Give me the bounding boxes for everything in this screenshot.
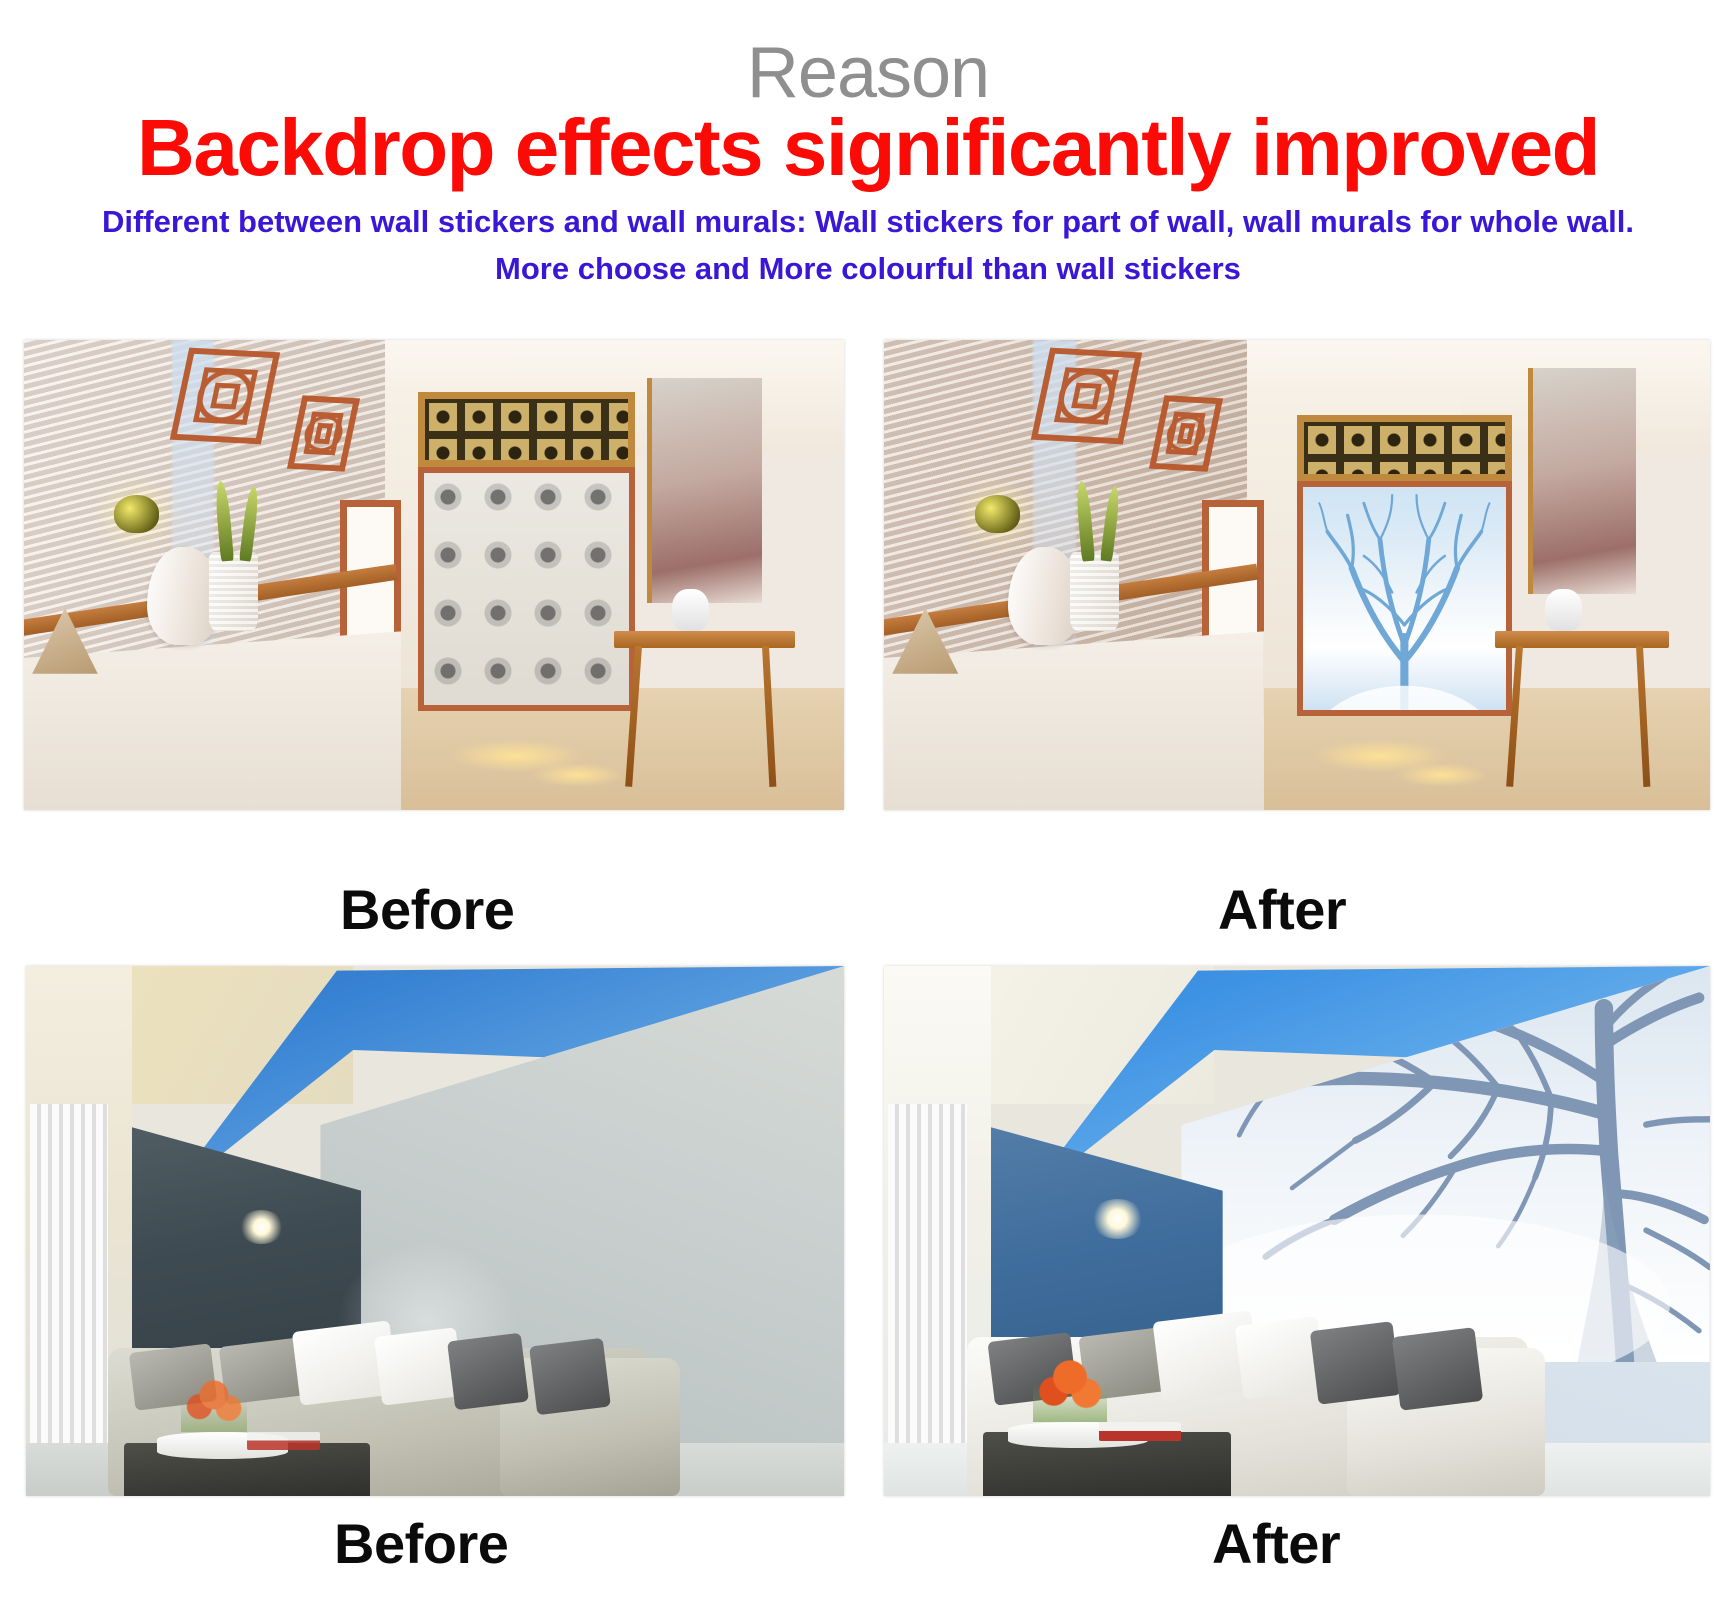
side-artwork [1528, 368, 1635, 594]
floor-light-pool-2 [1396, 763, 1487, 787]
photo-living-room-after [884, 966, 1710, 1496]
caption-hallway-before: Before [340, 880, 514, 940]
cushion-5 [447, 1333, 528, 1410]
caption-living-room-after: After [1212, 1514, 1340, 1574]
caption-hallway-after: After [1218, 880, 1346, 940]
ceiling-spotlight-icon [1091, 1199, 1145, 1239]
ceiling-spotlight-icon [239, 1210, 284, 1244]
lattice-decor-icon [1031, 348, 1142, 445]
lattice-decor-icon [170, 348, 281, 445]
tree-mural-panel [1297, 481, 1512, 716]
cushion-6 [529, 1338, 610, 1415]
photo-hallway-after [884, 340, 1710, 810]
tree-mural-icon [1303, 487, 1506, 716]
caption-living-room-before: Before [334, 1514, 508, 1574]
ribbed-vase [209, 552, 258, 632]
cushion-6 [1392, 1327, 1483, 1411]
scene-hallway-before [24, 340, 844, 810]
ribbed-vase [1070, 552, 1120, 632]
subtitle-line-1: Different between wall stickers and wall… [0, 202, 1736, 242]
promo-banner: Reason Backdrop effects significantly im… [0, 0, 1736, 1600]
flower-vase [181, 1379, 246, 1432]
photo-living-room-before [26, 966, 844, 1496]
transom-grille [1297, 415, 1512, 481]
transom-grille [418, 392, 635, 467]
radiator [888, 1104, 966, 1443]
scene-living-room-before [26, 966, 844, 1496]
decor-cup [672, 589, 709, 631]
cushion-5 [1309, 1322, 1400, 1406]
wall-lamp-icon [114, 495, 159, 533]
wallpaper-panel [418, 467, 635, 711]
wall-lamp-icon [975, 495, 1020, 533]
scene-hallway-after [884, 340, 1710, 810]
flower-vase [1033, 1358, 1107, 1422]
radiator [30, 1104, 108, 1443]
subtitle-line-2: More choose and More colourful than wall… [0, 249, 1736, 289]
page-title: Backdrop effects significantly improved [0, 104, 1736, 192]
book [247, 1432, 321, 1450]
side-artwork [647, 378, 762, 604]
photo-hallway-before [24, 340, 844, 810]
floor-light-pool-2 [532, 763, 622, 787]
book [1099, 1422, 1182, 1441]
scene-living-room-after [884, 966, 1710, 1496]
decor-cup [1545, 589, 1582, 631]
eyebrow-heading: Reason [0, 34, 1736, 112]
